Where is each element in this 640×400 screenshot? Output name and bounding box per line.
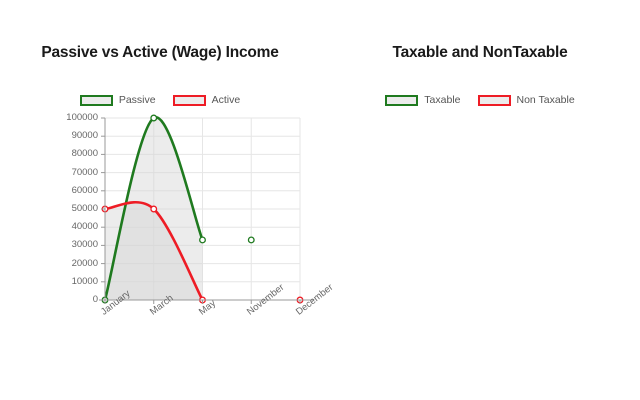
y-axis-tick-label: 80000 — [72, 148, 98, 159]
y-axis-tick-label: 30000 — [72, 239, 98, 250]
y-axis-tick-label: 60000 — [72, 185, 98, 196]
plot-area-left: 0100002000030000400005000060000700008000… — [0, 0, 320, 400]
chart-panel-taxable-nontaxable: Taxable and NonTaxable Taxable Non Taxab… — [320, 0, 640, 400]
dual-chart-canvas: Passive vs Active (Wage) Income Passive … — [0, 0, 640, 400]
y-axis-tick-label: 40000 — [72, 221, 98, 232]
y-axis-tick-label: 20000 — [72, 258, 98, 269]
data-point-marker[interactable] — [200, 237, 206, 243]
plot-area-right: 050000100000150000200000250000 JanuaryMa… — [320, 0, 640, 400]
data-point-marker[interactable] — [151, 206, 157, 212]
y-axis-tick-label: 50000 — [72, 203, 98, 214]
plot-svg-right — [320, 0, 640, 400]
y-axis-tick-label: 10000 — [72, 276, 98, 287]
data-point-marker[interactable] — [151, 115, 157, 121]
y-axis-tick-label: 100000 — [66, 112, 98, 123]
chart-panel-passive-vs-active: Passive vs Active (Wage) Income Passive … — [0, 0, 320, 400]
data-point-marker[interactable] — [248, 237, 254, 243]
y-axis-tick-label: 90000 — [72, 130, 98, 141]
y-axis-tick-label: 70000 — [72, 167, 98, 178]
plot-svg-left — [0, 0, 320, 400]
y-axis-tick-label: 0 — [93, 294, 98, 305]
